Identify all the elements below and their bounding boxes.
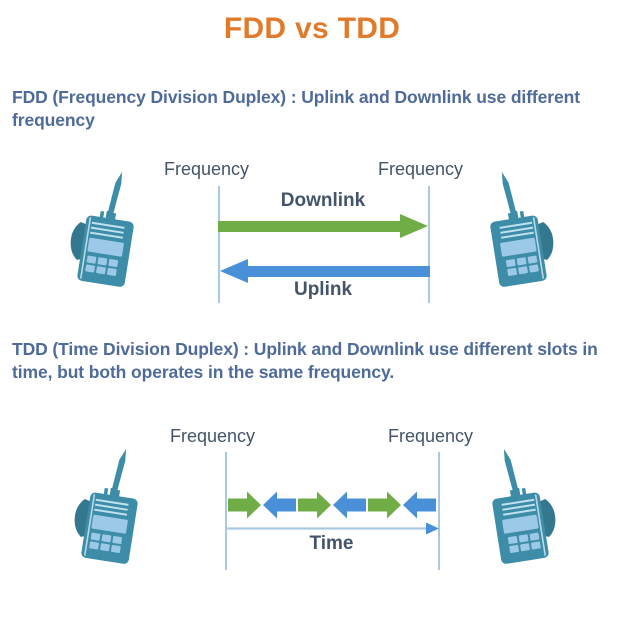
tdd-left-frequency-label: Frequency: [170, 426, 255, 447]
fdd-downlink-arrow-icon: [218, 212, 430, 240]
tdd-left-walkie-talkie-radio-icon: [62, 441, 158, 571]
tdd-slot-arrow-uplink: [263, 492, 296, 519]
tdd-slot-arrow-downlink: [368, 492, 401, 519]
tdd-slot-arrow-group: [228, 488, 438, 522]
fdd-description: FDD (Frequency Division Duplex) : Uplink…: [12, 86, 618, 133]
page-title: FDD vs TDD: [0, 12, 624, 46]
tdd-description: TDD (Time Division Duplex) : Uplink and …: [12, 338, 616, 385]
fdd-downlink-label: Downlink: [218, 190, 428, 212]
fdd-left-frequency-label: Frequency: [164, 159, 249, 180]
tdd-slot-arrow-downlink: [298, 492, 331, 519]
tdd-right-axis-line: [438, 452, 440, 570]
fdd-right-walkie-talkie-radio-icon: [470, 164, 566, 294]
tdd-slot-arrow-uplink: [403, 492, 436, 519]
tdd-diagram: Frequency Frequency Time: [0, 415, 624, 595]
tdd-slot-arrow-uplink: [333, 492, 366, 519]
tdd-right-frequency-label: Frequency: [388, 426, 473, 447]
fdd-uplink-label: Uplink: [218, 279, 428, 301]
fdd-right-axis-line: [428, 186, 430, 303]
fdd-right-frequency-label: Frequency: [378, 159, 463, 180]
fdd-diagram: Frequency Frequency Downlink Uplink: [0, 150, 624, 320]
fdd-left-walkie-talkie-radio-icon: [58, 164, 154, 294]
tdd-time-label: Time: [225, 533, 438, 555]
tdd-slot-arrow-downlink: [228, 492, 261, 519]
tdd-right-walkie-talkie-radio-icon: [472, 441, 568, 571]
